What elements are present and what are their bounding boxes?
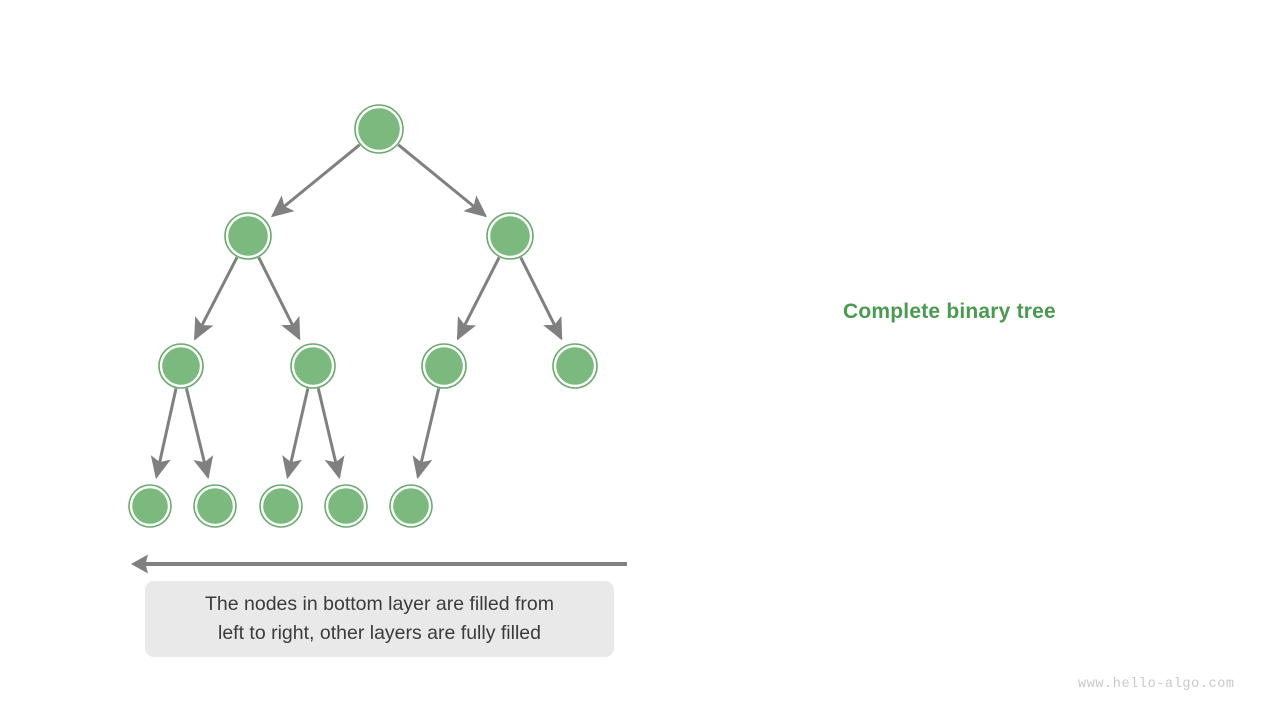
- tree-node-fill: [228, 216, 268, 256]
- tree-edge: [195, 257, 237, 338]
- tree-node-fill: [294, 347, 332, 385]
- tree-edges: [156, 145, 561, 477]
- fill-direction-arrow: [131, 555, 627, 574]
- tree-nodes: [129, 105, 597, 527]
- tree-node-fill: [263, 488, 299, 524]
- tree-node-fill: [556, 347, 594, 385]
- tree-node[interactable]: [194, 485, 236, 527]
- watermark: www.hello-algo.com: [1078, 677, 1235, 692]
- tree-node[interactable]: [129, 485, 171, 527]
- page-title: Complete binary tree: [843, 300, 1056, 324]
- tree-node-fill: [358, 108, 400, 150]
- tree-node[interactable]: [260, 485, 302, 527]
- tree-edge: [521, 257, 561, 338]
- tree-edge: [398, 145, 485, 216]
- tree-node[interactable]: [422, 344, 466, 388]
- tree-node[interactable]: [225, 213, 271, 259]
- tree-node[interactable]: [355, 105, 403, 153]
- tree-node[interactable]: [291, 344, 335, 388]
- tree-node-fill: [162, 347, 200, 385]
- tree-node-fill: [197, 488, 233, 524]
- tree-edge: [288, 388, 308, 476]
- fill-direction-arrowhead: [131, 555, 148, 574]
- tree-node[interactable]: [487, 213, 533, 259]
- tree-edge: [156, 388, 176, 476]
- tree-node-fill: [490, 216, 530, 256]
- bottom-layer-note-text: The nodes in bottom layer are filled fro…: [205, 590, 554, 648]
- tree-node-fill: [393, 488, 429, 524]
- tree-node[interactable]: [390, 485, 432, 527]
- tree-edge: [273, 145, 360, 216]
- tree-node[interactable]: [159, 344, 203, 388]
- tree-node-fill: [328, 488, 364, 524]
- tree-edge: [186, 388, 207, 476]
- tree-edge: [318, 388, 339, 476]
- tree-node-fill: [132, 488, 168, 524]
- tree-edge: [458, 257, 499, 338]
- tree-edge: [418, 388, 439, 476]
- tree-edge: [259, 257, 299, 338]
- tree-node[interactable]: [553, 344, 597, 388]
- tree-node-fill: [425, 347, 463, 385]
- bottom-layer-note: The nodes in bottom layer are filled fro…: [145, 581, 614, 657]
- tree-node[interactable]: [325, 485, 367, 527]
